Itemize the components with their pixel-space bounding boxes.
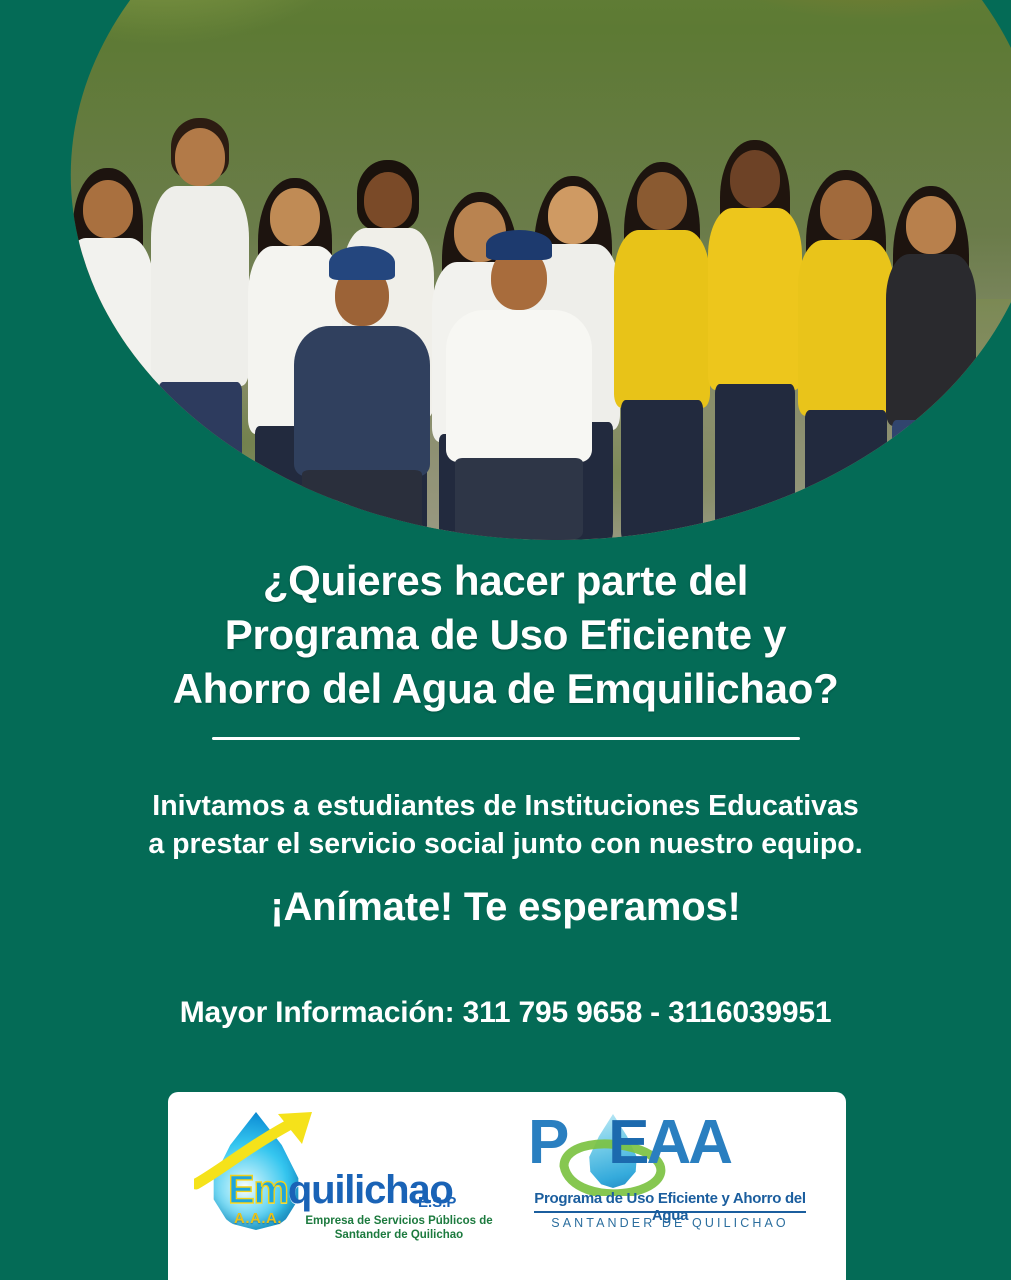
pueaa-letter-p: P: [528, 1112, 566, 1174]
pueaa-letter-e: E: [608, 1112, 646, 1174]
callout-text: ¡Anímate! Te esperamos!: [0, 885, 1011, 930]
headline: ¿Quieres hacer parte del Programa de Uso…: [0, 554, 1011, 715]
photo-person: [150, 90, 250, 540]
emquilichao-tagline: Empresa de Servicios Públicos de Santand…: [304, 1214, 494, 1242]
pueaa-letter-a2: A: [688, 1112, 730, 1174]
photo-person: [292, 240, 432, 540]
hero-photo: [0, 0, 1011, 540]
poster-root: ¿Quieres hacer parte del Programa de Uso…: [0, 0, 1011, 1280]
emquilichao-aaa: A.A.A.: [234, 1210, 282, 1227]
photo-background: [0, 0, 1011, 540]
emquilichao-prefix: Em: [228, 1168, 288, 1212]
headline-divider: [212, 737, 800, 740]
pueaa-letter-a1: A: [647, 1112, 689, 1174]
headline-line-1: ¿Quieres hacer parte del: [0, 554, 1011, 608]
pueaa-wordmark: PUEAA: [528, 1112, 730, 1174]
emquilichao-esp: E.S.P: [418, 1194, 456, 1211]
contact-info: Mayor Información: 311 795 9658 - 311603…: [0, 996, 1011, 1030]
emquilichao-tagline-line-1: Empresa de Servicios Públicos de: [304, 1214, 494, 1228]
body-line-2: a prestar el servicio social junto con n…: [0, 826, 1011, 864]
headline-line-3: Ahorro del Agua de Emquilichao?: [0, 662, 1011, 716]
body-line-1: Inivtamos a estudiantes de Instituciones…: [0, 788, 1011, 826]
pueaa-rule: [534, 1211, 806, 1213]
photo-person: [796, 100, 896, 540]
photo-person: [60, 110, 156, 540]
logo-panel: Emquilichao A.A.A. E.S.P Empresa de Serv…: [168, 1092, 846, 1280]
body-copy: Inivtamos a estudiantes de Instituciones…: [0, 788, 1011, 863]
emquilichao-tagline-line-2: Santander de Quilichao: [304, 1228, 494, 1242]
pueaa-subtitle: SANTANDER DE QUILICHAO: [522, 1216, 818, 1230]
photo-person: [444, 230, 594, 540]
photo-person: [706, 94, 804, 540]
photo-person: [612, 100, 712, 540]
emquilichao-logo: Emquilichao A.A.A. E.S.P Empresa de Serv…: [194, 1110, 494, 1260]
headline-line-2: Programa de Uso Eficiente y: [0, 608, 1011, 662]
photo-person: [884, 110, 978, 540]
pueaa-logo: PUEAA Programa de Uso Eficiente y Ahorro…: [520, 1110, 820, 1260]
